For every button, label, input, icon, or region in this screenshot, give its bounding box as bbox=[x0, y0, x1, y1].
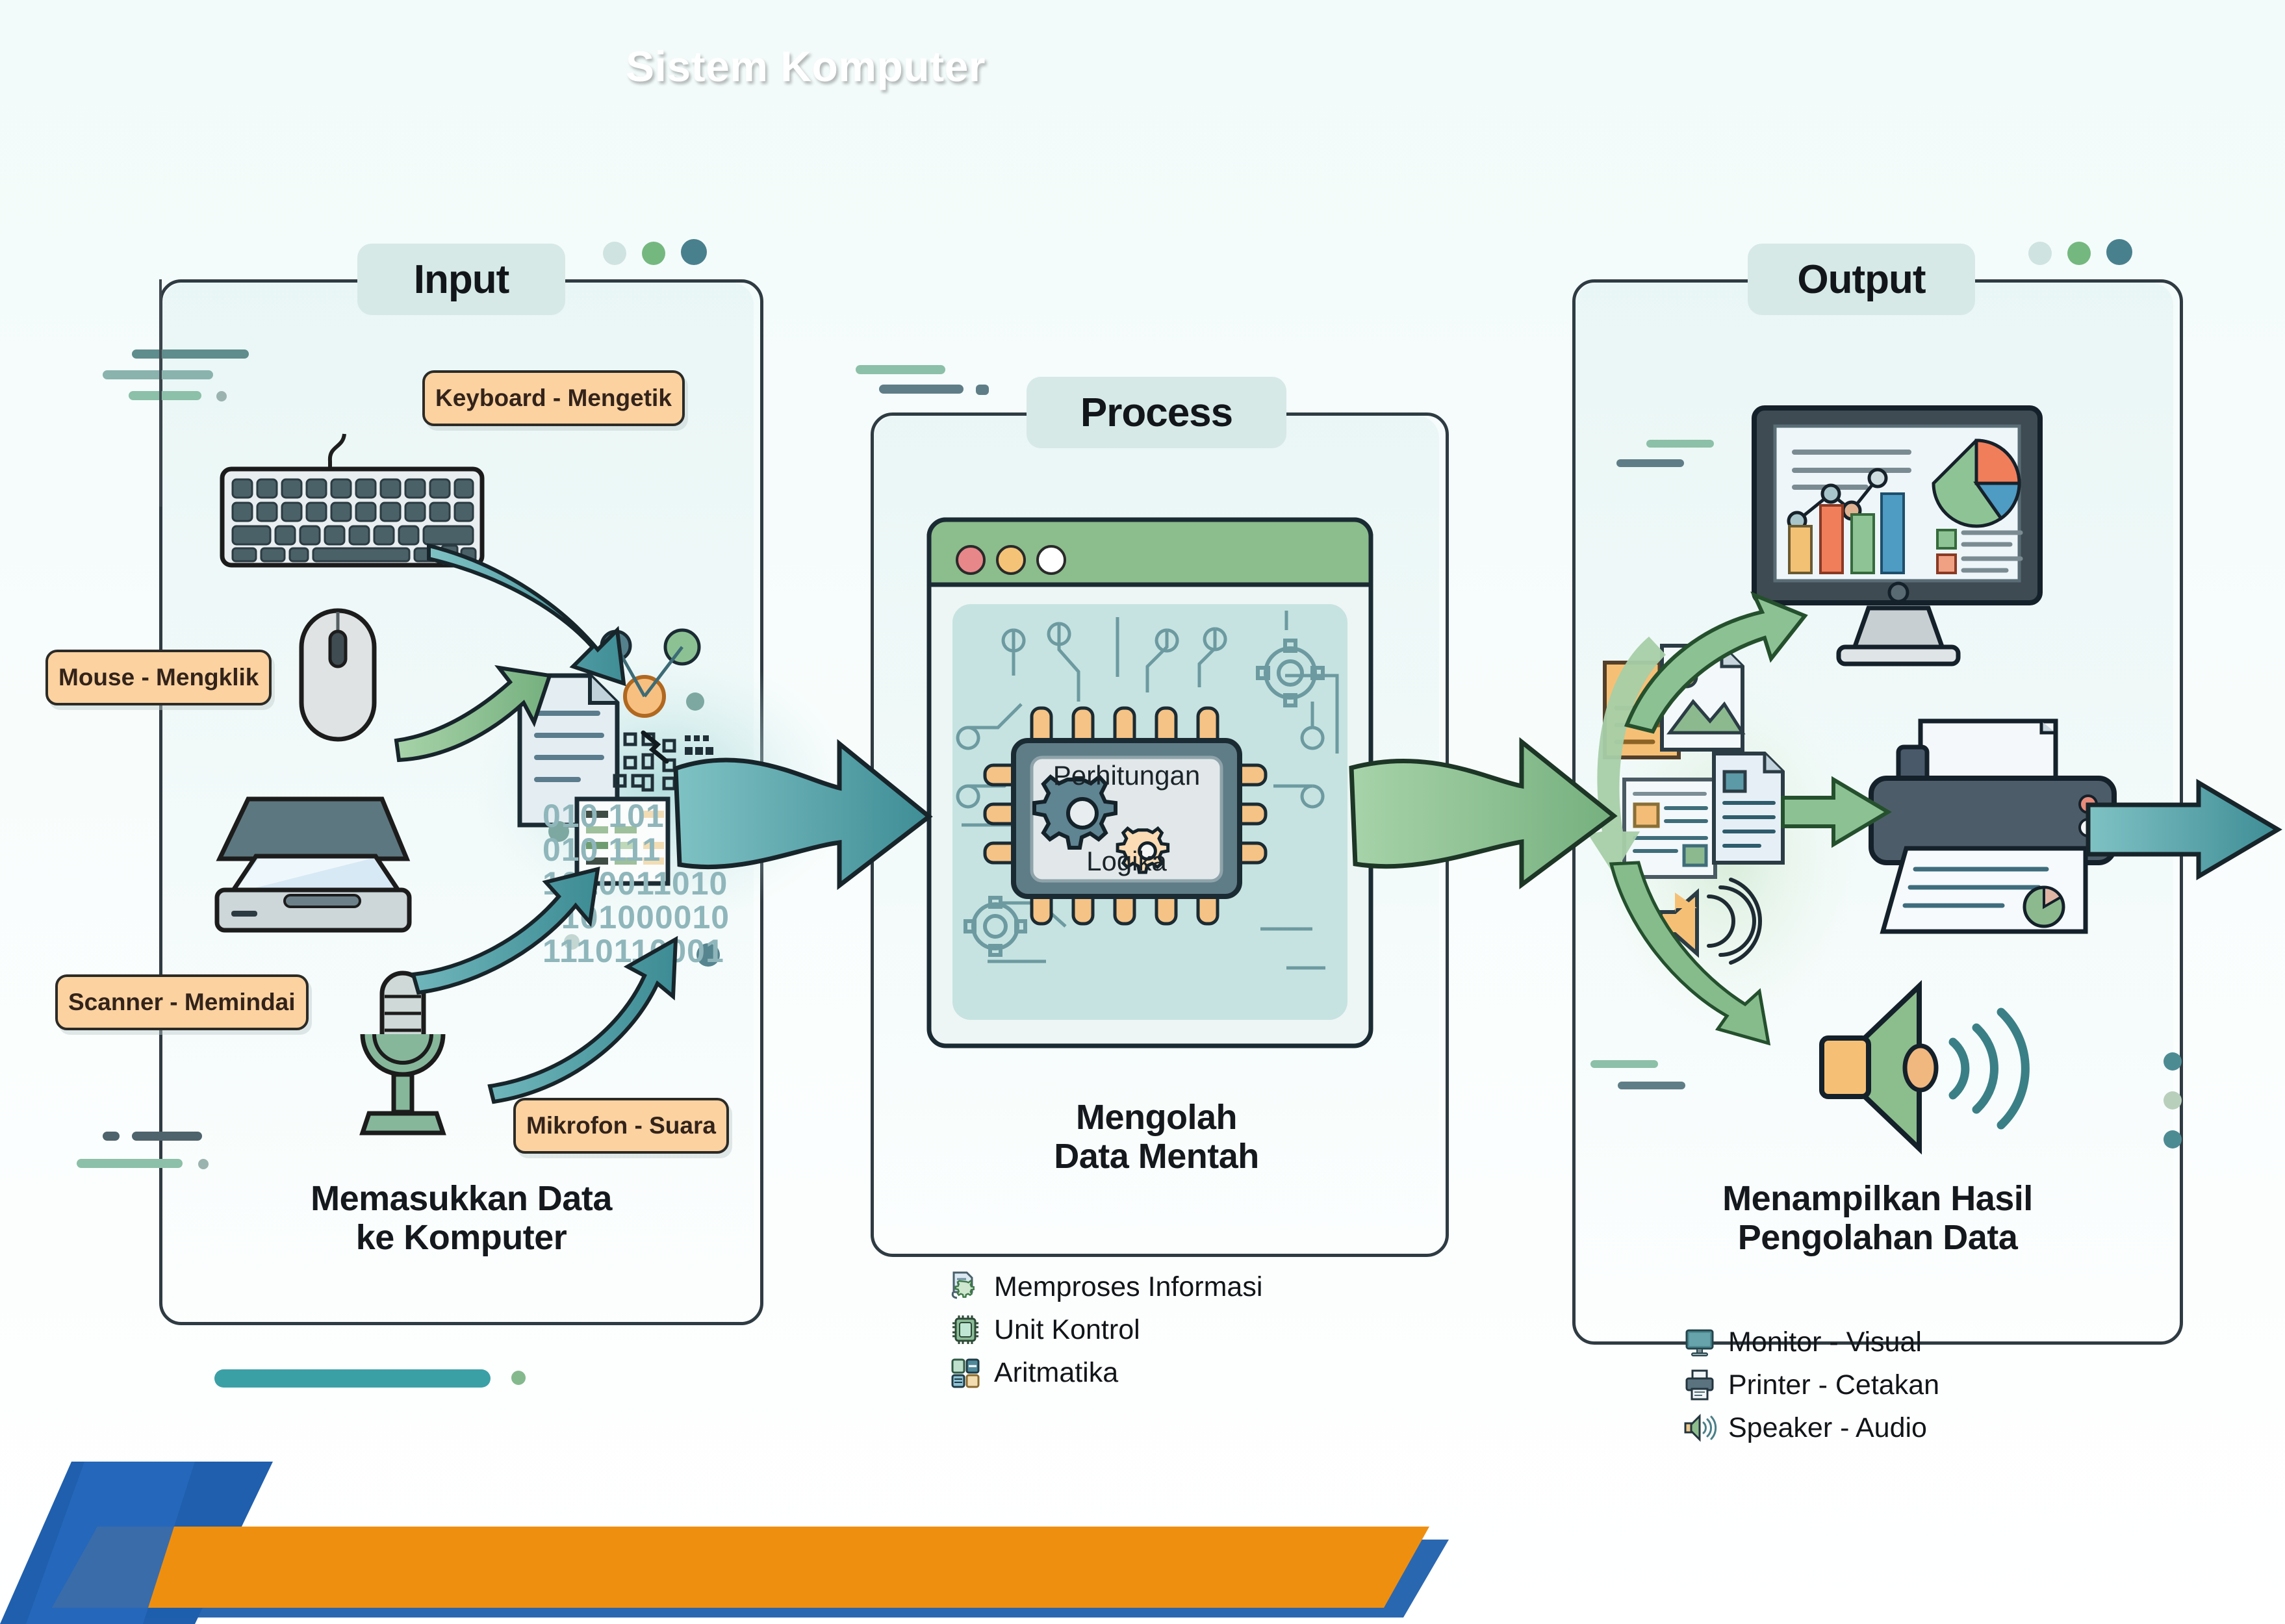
chip-label-bottom: Logika bbox=[1086, 846, 1167, 876]
decor-dot-12 bbox=[2164, 1091, 2182, 1110]
list-item[interactable]: Memproses Informasi bbox=[949, 1270, 1262, 1304]
decor-dash-4 bbox=[103, 1132, 120, 1141]
document-gear-icon bbox=[949, 1270, 982, 1304]
arrow-input-to-process bbox=[676, 737, 936, 906]
list-item[interactable]: Aritmatika bbox=[949, 1356, 1262, 1389]
decor-dot-13 bbox=[2164, 1130, 2182, 1148]
decor-dot-8 bbox=[2028, 242, 2052, 265]
arrow-mouse-to-data bbox=[390, 663, 559, 780]
callout-scanner[interactable]: Scanner - Memindai bbox=[55, 974, 309, 1030]
output-caption-line2: Pengolahan Data bbox=[1585, 1218, 2170, 1257]
decor-dot-1 bbox=[603, 242, 626, 265]
arrow-to-monitor bbox=[1624, 604, 1806, 734]
decor-dash-10 bbox=[1616, 459, 1684, 467]
process-panel-title: Process bbox=[1027, 377, 1286, 448]
decor-dot-7 bbox=[976, 385, 989, 395]
banner-orange-bar bbox=[52, 1527, 1429, 1608]
arrow-docs-to-printer bbox=[1780, 773, 1897, 851]
process-caption-line1: Mengolah bbox=[884, 1098, 1429, 1137]
calculator-grid-icon bbox=[949, 1356, 982, 1389]
microphone-icon bbox=[344, 961, 461, 1156]
decor-bar-teal bbox=[214, 1369, 491, 1388]
decor-dot-9 bbox=[2067, 242, 2091, 265]
input-caption-line2: ke Komputer bbox=[175, 1218, 747, 1257]
list-item[interactable]: Speaker - Audio bbox=[1683, 1411, 1939, 1445]
callout-keyboard[interactable]: Keyboard - Mengetik bbox=[422, 370, 685, 426]
decor-dot-2 bbox=[642, 242, 665, 265]
list-item-label: Memproses Informasi bbox=[994, 1271, 1262, 1303]
arrow-output-exit bbox=[2086, 776, 2285, 874]
printer-icon bbox=[1683, 1368, 1717, 1402]
decor-dash-8 bbox=[879, 385, 964, 394]
banner-title: Sistem Komputer bbox=[416, 42, 1195, 91]
scanner-icon bbox=[208, 780, 416, 942]
output-caption: Menampilkan Hasil Pengolahan Data bbox=[1585, 1179, 2170, 1258]
list-item-label: Unit Kontrol bbox=[994, 1314, 1140, 1346]
input-guide-line-top bbox=[159, 279, 162, 507]
list-item-label: Speaker - Audio bbox=[1728, 1412, 1927, 1444]
callout-microphone[interactable]: Mikrofon - Suara bbox=[513, 1098, 729, 1154]
decor-dash-7 bbox=[856, 365, 945, 374]
bottom-banner bbox=[0, 1462, 1494, 1624]
decor-dot-3 bbox=[681, 239, 707, 265]
input-panel-title: Input bbox=[357, 244, 565, 315]
infographic-canvas: Input Memasukkan Data ke Komputer bbox=[0, 0, 2285, 1624]
decor-dot-6 bbox=[511, 1371, 526, 1385]
decor-dash-6 bbox=[77, 1159, 183, 1168]
decor-dash-2 bbox=[103, 370, 213, 379]
output-bullets: Monitor - Visual Printer - Cetakan Speak… bbox=[1683, 1325, 1939, 1454]
decor-dot-10 bbox=[2106, 239, 2132, 265]
decor-dot-5 bbox=[198, 1159, 209, 1169]
list-item[interactable]: Unit Kontrol bbox=[949, 1313, 1262, 1347]
decor-dash-9 bbox=[1646, 440, 1714, 448]
list-item-label: Aritmatika bbox=[994, 1357, 1118, 1389]
mouse-icon bbox=[292, 604, 383, 747]
cpu-chip-icon bbox=[949, 1313, 982, 1347]
decor-dot-4 bbox=[216, 391, 227, 401]
arrow-microphone-to-data bbox=[481, 935, 676, 1098]
chip-label-top: Perhitungan bbox=[1053, 760, 1201, 791]
list-item[interactable]: Monitor - Visual bbox=[1683, 1325, 1939, 1359]
speaker-icon bbox=[1683, 1411, 1717, 1445]
process-bullets: Memproses Informasi Unit Kontrol bbox=[949, 1270, 1262, 1399]
input-caption-line1: Memasukkan Data bbox=[175, 1179, 747, 1218]
input-caption: Memasukkan Data ke Komputer bbox=[175, 1179, 747, 1258]
arrow-process-to-output bbox=[1351, 734, 1624, 909]
decor-dot-11 bbox=[2164, 1052, 2182, 1071]
decor-dash-5 bbox=[132, 1132, 202, 1141]
process-window: Perhitungan Logika bbox=[923, 513, 1377, 1052]
speaker-icon bbox=[1813, 974, 2060, 1163]
list-item[interactable]: Printer - Cetakan bbox=[1683, 1368, 1939, 1402]
list-item-label: Printer - Cetakan bbox=[1728, 1369, 1939, 1401]
monitor-icon bbox=[1683, 1325, 1717, 1359]
process-caption: Mengolah Data Mentah bbox=[884, 1098, 1429, 1176]
callout-mouse[interactable]: Mouse - Mengklik bbox=[45, 650, 272, 705]
list-item-label: Monitor - Visual bbox=[1728, 1326, 1922, 1358]
output-caption-line1: Menampilkan Hasil bbox=[1585, 1179, 2170, 1218]
process-caption-line2: Data Mentah bbox=[884, 1137, 1429, 1176]
decor-dash-3 bbox=[129, 391, 201, 400]
decor-dash-1 bbox=[132, 349, 249, 359]
output-panel-title: Output bbox=[1748, 244, 1975, 315]
